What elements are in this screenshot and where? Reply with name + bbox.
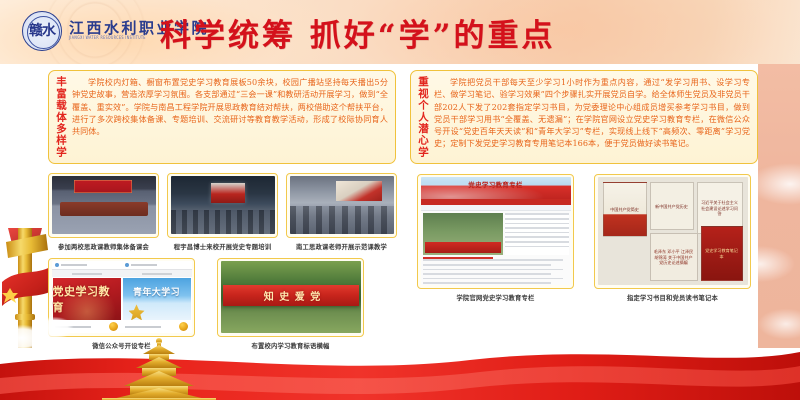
wechat-card-b-title: 青年大学习	[133, 285, 180, 298]
lecture-hall-photo	[171, 176, 275, 234]
website-feature-image	[423, 213, 503, 255]
wechat-footer	[52, 321, 192, 333]
wechat-avatar-dot	[55, 263, 59, 267]
list-line	[505, 227, 569, 229]
photo-cell[interactable]: 党史学习教育专栏	[417, 174, 574, 302]
wechat-card-party-history: 党史学习教育	[52, 277, 122, 321]
photo-frame	[167, 173, 278, 238]
photo-cell[interactable]: 程宇昌博士来校开展党史专题培训	[167, 173, 278, 251]
photo-frame: 党史学习教育专栏	[417, 174, 574, 289]
panel-left: 丰富载体多样学 学院校内灯箱、橱窗布置党史学习教育展板50余块，校园广播站坚持每…	[48, 70, 396, 350]
wechat-footer-line	[125, 326, 161, 328]
list-line	[505, 236, 569, 238]
photo-caption: 南工思政课老师开展示范课教学	[296, 242, 387, 251]
wechat-column-screenshot: 党史学习教育 青年大学习	[52, 261, 192, 333]
wechat-title-line	[131, 264, 157, 266]
photo-caption: 程宇昌博士来校开展党史专题培训	[174, 242, 271, 251]
classroom-demo-photo	[290, 176, 394, 234]
list-line	[423, 264, 551, 266]
page-title: 科学统筹 抓好“学”的重点	[160, 9, 760, 55]
photo-row-meetings: 参加两校思政课教师集体备课会 程宇昌博士来校开展党史专题培训 南工思政课老师开展…	[48, 173, 396, 251]
website-header: 党史学习教育专栏	[421, 177, 571, 199]
website-news-list	[505, 213, 569, 255]
list-line	[423, 282, 551, 284]
list-line	[423, 278, 563, 280]
photo-cell[interactable]: 中国共产党简史 新中国共产党历史 习近平关于社会主义社会建设论述学习问答 毛泽东…	[594, 174, 751, 302]
panel-left-vertical-tag: 丰富载体多样学	[53, 76, 68, 158]
website-subnav	[421, 205, 571, 211]
wechat-footer-line	[55, 326, 91, 328]
list-line	[505, 241, 569, 243]
photo-frame	[48, 173, 159, 238]
photo-frame: 党史学习教育 青年大学习	[48, 258, 195, 337]
book-cover: 中国共产党简史	[603, 182, 647, 237]
photo-frame: 中国共产党简史 新中国共产党历史 习近平关于社会主义社会建设论述学习问答 毛泽东…	[594, 174, 751, 289]
list-line	[505, 213, 569, 215]
notebook-cover: 党史学习教育笔记本	[701, 226, 743, 281]
photo-cell[interactable]: 党史学习教育 青年大学习 微信公众号开设专栏	[48, 258, 195, 350]
photo-caption: 参加两校思政课教师集体备课会	[58, 242, 149, 251]
website-bottom-rows	[423, 259, 569, 283]
study-books-photo: 中国共产党简史 新中国共产党历史 习近平关于社会主义社会建设论述学习问答 毛泽东…	[598, 177, 748, 285]
list-line	[505, 218, 569, 220]
photo-caption: 学院官网党史学习教育专栏	[457, 293, 535, 302]
banner-slogan-text: 知 史 爱 党	[231, 287, 355, 304]
photo-caption: 指定学习书目和党员读书笔记本	[627, 293, 718, 302]
poster-board: 赣水 江西水利职业学院 JIANGXI WATER RESOURCES INST…	[0, 0, 800, 400]
photo-row-media: 党史学习教育 青年大学习 微信公众号开设专栏	[48, 258, 396, 350]
panel-right: 重视个人潜心学 学院把党员干部每天至少学习1小时作为重点内容，通过“发学习用书、…	[410, 70, 758, 302]
list-line	[423, 273, 551, 275]
photo-frame: 知 史 爱 党	[217, 258, 364, 337]
list-line	[505, 223, 569, 225]
panel-right-vertical-tag: 重视个人潜心学	[415, 76, 430, 158]
photo-cell[interactable]: 南工思政课老师开展示范课教学	[286, 173, 397, 251]
website-title: 党史学习教育专栏	[468, 179, 522, 189]
text-card-left: 丰富载体多样学 学院校内灯箱、橱窗布置党史学习教育展板50余块，校园广播站坚持每…	[48, 70, 396, 164]
wechat-meta-line	[72, 273, 102, 275]
wechat-avatar-dot	[125, 263, 129, 267]
seal-glyph: 赣水	[29, 24, 55, 38]
photo-frame	[286, 173, 397, 238]
book-cover: 毛泽东 邓小平 江泽民 胡锦涛 关于中国共产党历史论述摘编	[650, 233, 698, 281]
wechat-card-a-title: 党史学习教育	[53, 283, 121, 315]
website-column-screenshot: 党史学习教育专栏	[421, 177, 571, 285]
wechat-subbar	[52, 270, 192, 277]
wechat-article-cards: 党史学习教育 青年大学习	[52, 277, 192, 321]
photo-cell[interactable]: 参加两校思政课教师集体备课会	[48, 173, 159, 251]
wechat-badge-icon	[179, 322, 188, 331]
huabiao-column-icon	[2, 228, 54, 348]
wechat-topbar	[52, 261, 192, 270]
panel-right-body: 学院把党员干部每天至少学习1小时作为重点内容，通过“发学习用书、设学习专栏、做学…	[434, 76, 750, 158]
wechat-title-line	[61, 264, 87, 266]
temple-of-heaven-icon	[96, 338, 222, 400]
campus-banner-photo: 知 史 爱 党	[221, 261, 361, 333]
list-line	[423, 259, 563, 261]
meeting-roundtable-photo	[52, 176, 156, 234]
photo-caption: 布置校内学习教育标语横幅	[252, 341, 330, 350]
text-card-right: 重视个人潜心学 学院把党员干部每天至少学习1小时作为重点内容，通过“发学习用书、…	[410, 70, 758, 164]
list-line	[505, 232, 569, 234]
photo-cell[interactable]: 知 史 爱 党 布置校内学习教育标语横幅	[217, 258, 364, 350]
wechat-card-youth-study: 青年大学习	[122, 277, 192, 321]
panel-left-body: 学院校内灯箱、橱窗布置党史学习教育展板50余块，校园广播站坚持每天播出5分钟党史…	[72, 76, 388, 158]
list-line	[505, 246, 569, 248]
book-cover: 新中国共产党历史	[650, 182, 694, 230]
wechat-meta-line	[142, 273, 172, 275]
photo-row-resources: 党史学习教育专栏	[410, 174, 758, 302]
list-line	[423, 269, 563, 271]
institute-seal-icon: 赣水	[22, 11, 62, 51]
wechat-badge-icon	[109, 322, 118, 331]
